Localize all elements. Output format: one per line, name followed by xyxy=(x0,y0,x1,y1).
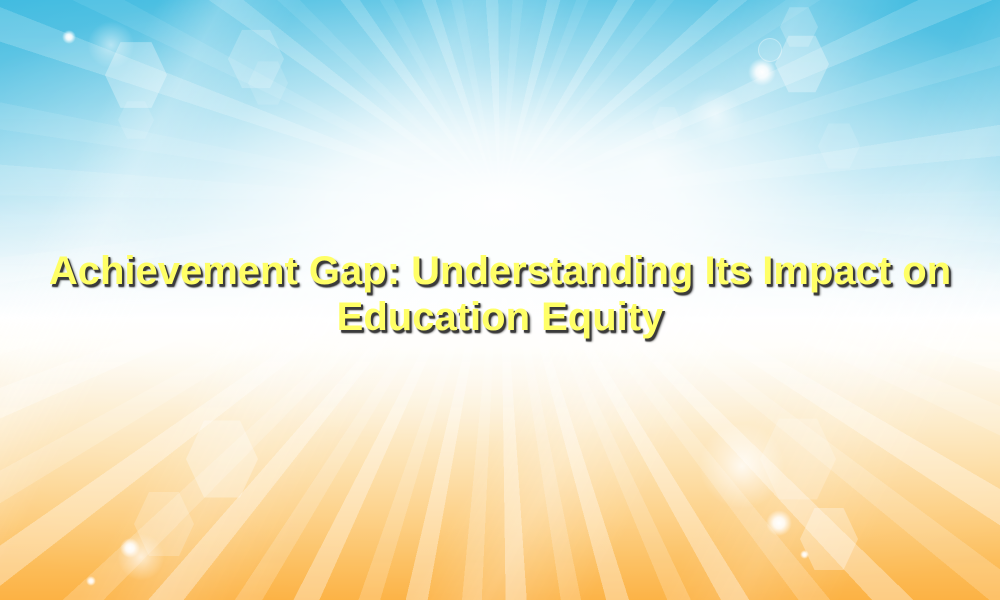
lens-flare-glow-icon xyxy=(700,424,784,508)
page-title-line-1: Achievement Gap: Understanding Its Impac… xyxy=(40,248,960,294)
page-title-line-2: Education Equity xyxy=(40,294,960,340)
lens-flare-spark-icon xyxy=(86,576,96,586)
page-title: Achievement Gap: Understanding Its Impac… xyxy=(0,248,1000,340)
lens-flare-spark-icon xyxy=(800,550,809,559)
lens-flare-glow-icon xyxy=(118,534,164,580)
title-banner: Achievement Gap: Understanding Its Impac… xyxy=(0,0,1000,600)
lens-flare-spark-icon xyxy=(766,510,792,536)
